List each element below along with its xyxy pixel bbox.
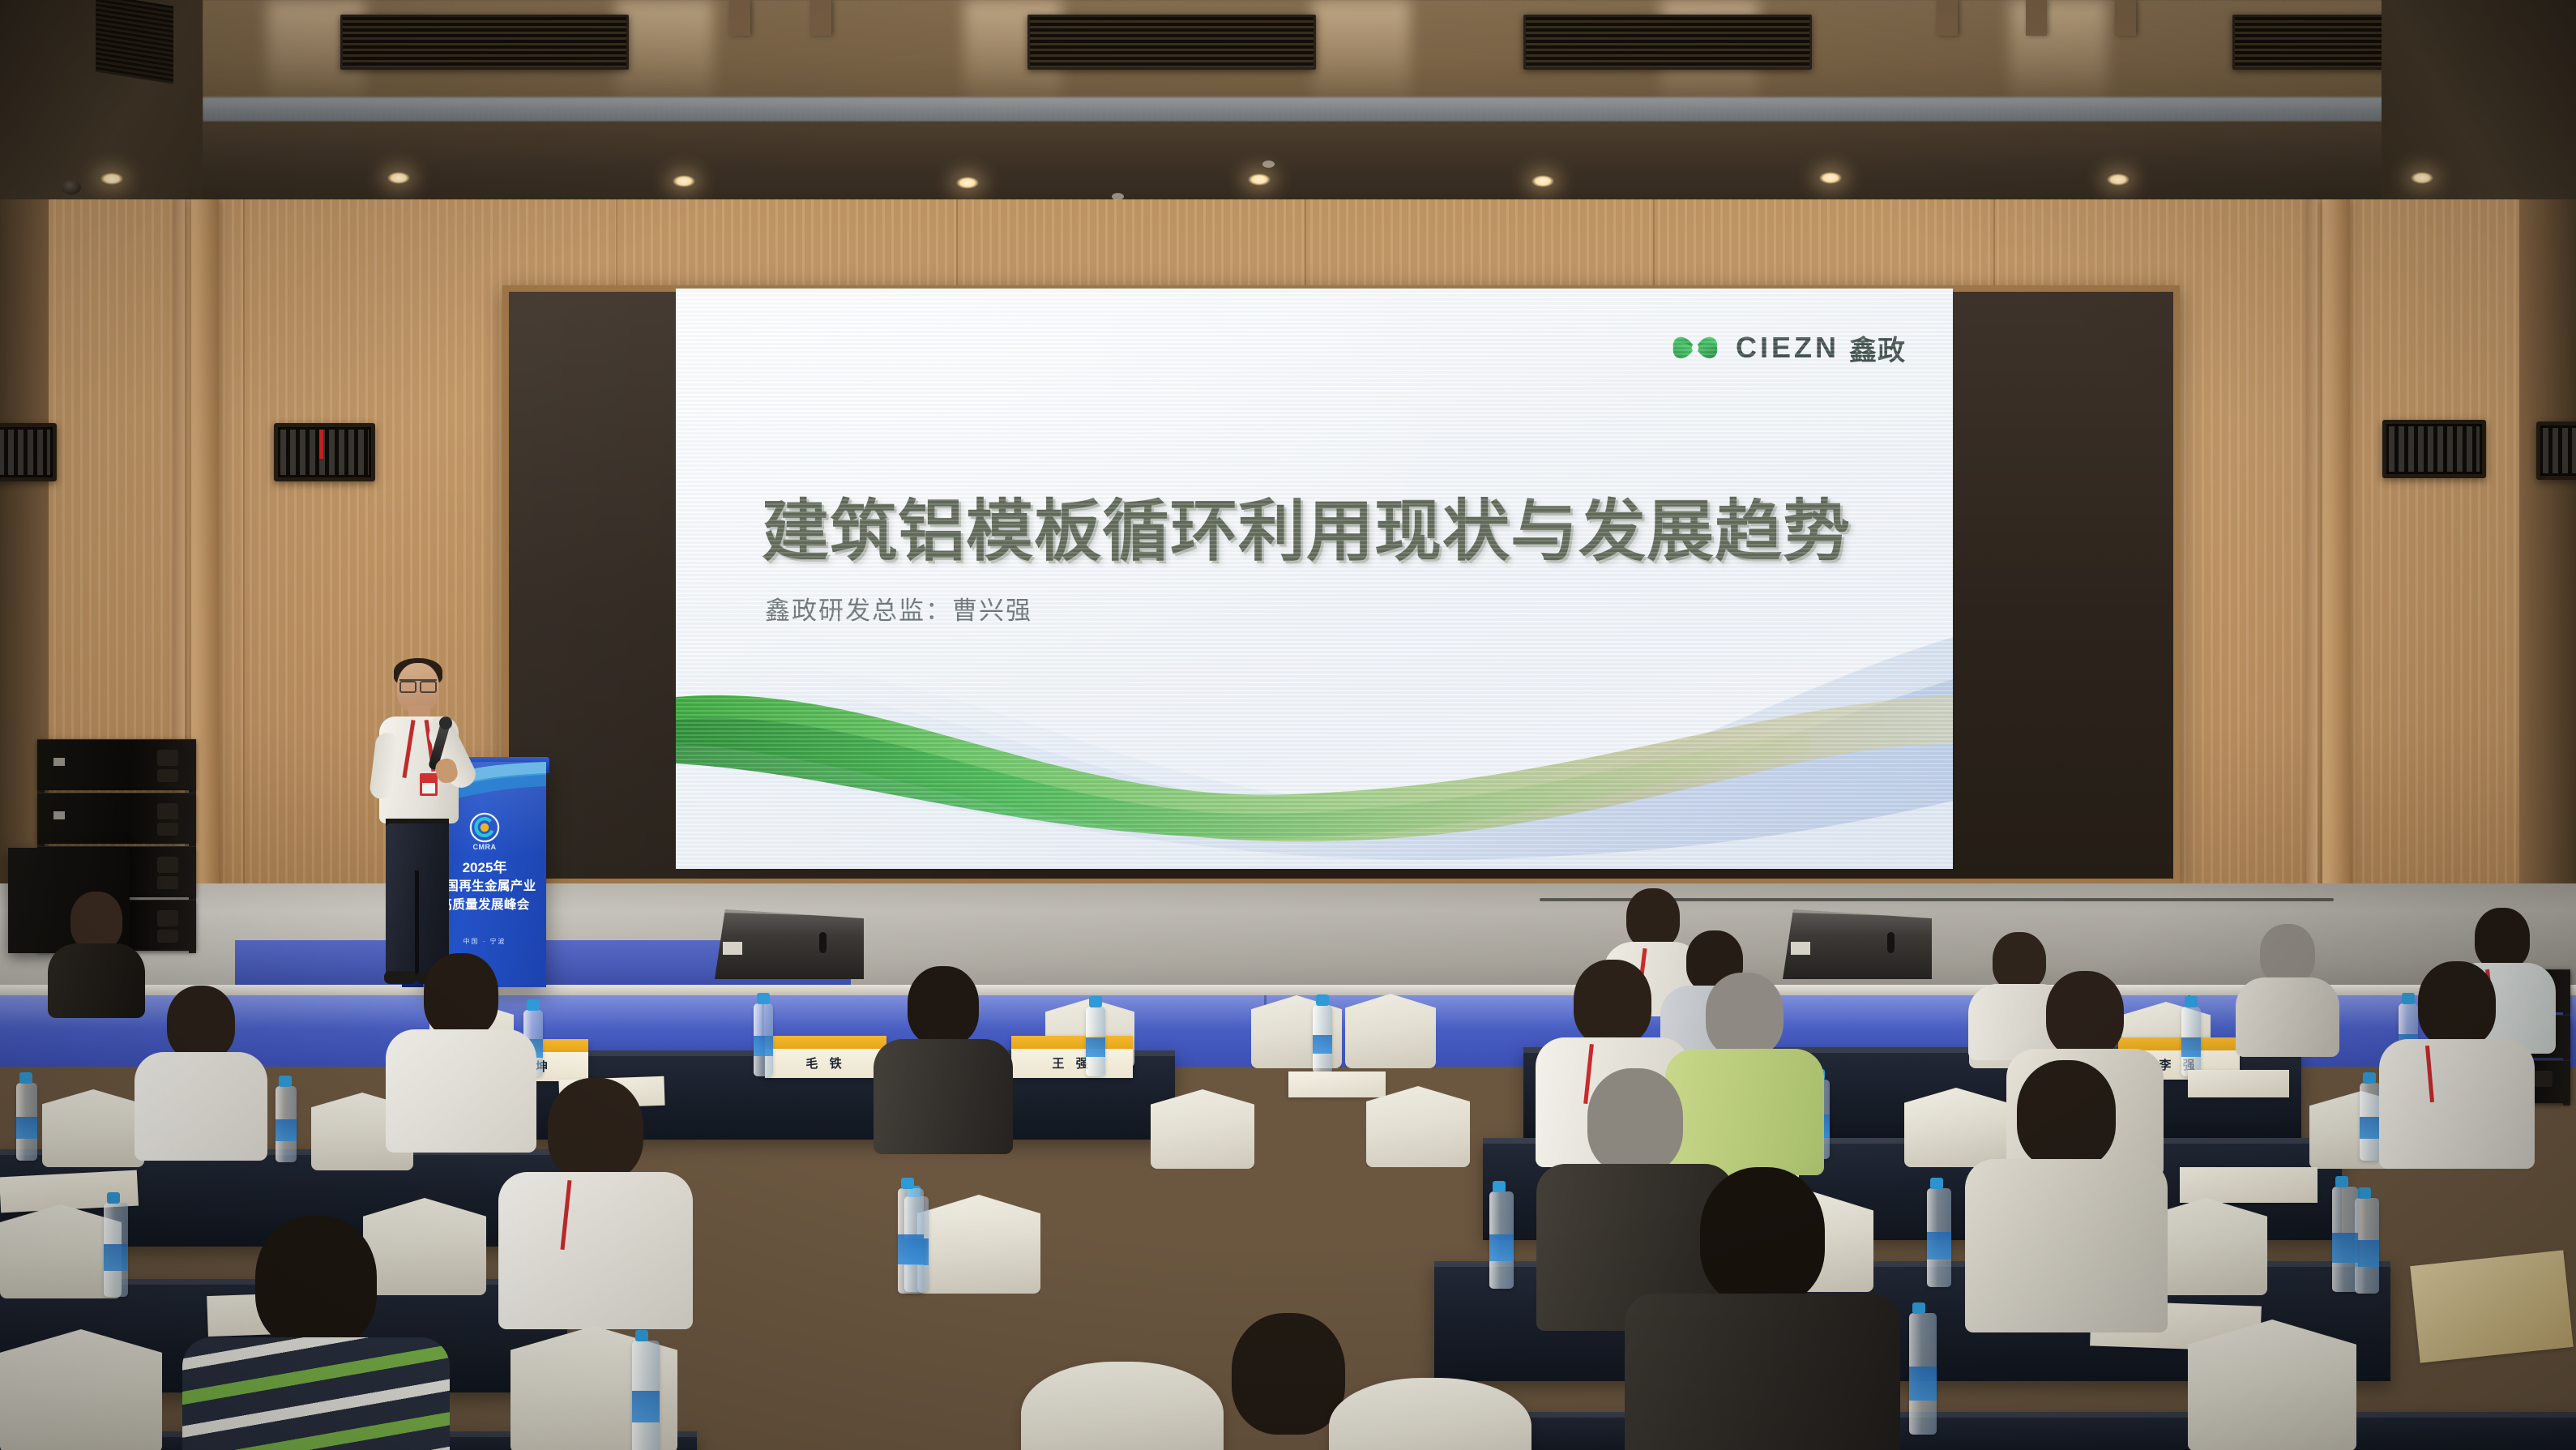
audience-chair (1366, 1086, 1470, 1167)
audience-head (1587, 1068, 1683, 1174)
audience-member (49, 892, 144, 1013)
wall-pilaster (2306, 199, 2318, 929)
vent-red-ribbon (319, 430, 323, 459)
audience-member (1969, 1060, 2164, 1328)
audience-head (2418, 961, 2496, 1047)
bottled-water (2332, 1187, 2358, 1292)
audience-member (186, 1216, 446, 1450)
ceiling-beam (2115, 0, 2136, 36)
name-placard: 毛 铁 (765, 1036, 886, 1078)
downlight (100, 173, 123, 185)
ceiling-panel-left (0, 0, 203, 204)
audience-chair (0, 1329, 162, 1450)
notepad (2180, 1167, 2318, 1203)
audience-head (1700, 1167, 1825, 1305)
audience-head (424, 953, 498, 1037)
bottled-water (16, 1083, 37, 1161)
presenter-glasses (399, 679, 437, 690)
presenter (366, 658, 467, 997)
ceiling-beam (810, 0, 831, 36)
audience-head (2475, 908, 2530, 969)
audience-head (1706, 973, 1784, 1057)
ceiling-light-wash (616, 0, 713, 107)
cmra-abbr: CMRA (473, 843, 497, 851)
slide-subtitle: 鑫政研发总监：曹兴强 (765, 590, 1032, 627)
bottled-water (1927, 1188, 1951, 1287)
audience-torso (1625, 1294, 1900, 1450)
conference-hall-photo: CIEZN 鑫政 建筑铝模板循环利用现状与发展趋势 鑫政研发总监：曹兴强 ⌒ (0, 0, 2576, 1450)
ceiling-lower-plane (0, 122, 2576, 204)
led-video-wall: CIEZN 鑫政 建筑铝模板循环利用现状与发展趋势 鑫政研发总监：曹兴强 (502, 285, 2180, 885)
ceiling-light-wash (2010, 0, 2107, 107)
bottled-water (2360, 1083, 2381, 1161)
placard-name: 王 强 (1011, 1049, 1133, 1078)
audience-member (1629, 1167, 1896, 1450)
ceiling-vent-grille (340, 15, 629, 70)
ceiling-panel-right (2382, 0, 2576, 204)
ceiling (0, 0, 2576, 204)
presenter-badge (420, 773, 438, 796)
ceiling-camera-icon (62, 180, 81, 195)
audience-torso-striped-polo (182, 1337, 450, 1450)
ceiling-vent-grille (1523, 15, 1812, 70)
ceiling-soffit-band (203, 97, 2390, 122)
downlight (387, 172, 410, 184)
audience-torso (874, 1039, 1013, 1154)
audience-torso (498, 1172, 693, 1329)
bottled-water (2355, 1198, 2379, 1294)
wall-right-return (2519, 199, 2576, 929)
downlight (1532, 175, 1554, 187)
ceiling-beam (729, 0, 750, 36)
audience-chair (1151, 1089, 1254, 1169)
name-placard: 王 强 (1011, 1036, 1133, 1078)
downlight (956, 177, 979, 189)
ceiling-return-grille (96, 0, 173, 84)
audience-head (908, 966, 979, 1046)
audience-head (167, 986, 235, 1060)
presentation-slide: CIEZN 鑫政 建筑铝模板循环利用现状与发展趋势 鑫政研发总监：曹兴强 (676, 289, 1953, 869)
cmra-logo-icon (469, 812, 500, 843)
downlight (1819, 172, 1842, 184)
wall-vent-panel (2536, 421, 2576, 480)
notepad (2188, 1070, 2289, 1097)
bottled-water (104, 1203, 128, 1297)
audience-head (1574, 960, 1651, 1046)
audience-head (2260, 924, 2315, 984)
wall-pilaster (2322, 199, 2350, 929)
wall-vent-panel (274, 423, 375, 481)
audience-member (136, 986, 266, 1156)
slide-logo-wordmark-latin: CIEZN (1736, 331, 1839, 365)
bottled-water (1313, 1005, 1332, 1073)
audience-chair (1021, 1362, 1224, 1450)
audience-member (2382, 961, 2531, 1166)
bottled-water (632, 1341, 660, 1450)
wall-vent-panel (0, 423, 57, 481)
audience-member (2236, 924, 2339, 1052)
bottled-water (898, 1188, 924, 1294)
slide-logo: CIEZN 鑫政 (1670, 323, 1906, 373)
slide-wave-graphic (676, 601, 1953, 869)
ceiling-beam (2026, 0, 2047, 36)
wall-vent-panel (2382, 420, 2486, 478)
downlight (2107, 173, 2130, 186)
slide-logo-wordmark-cn: 鑫政 (1849, 328, 1906, 368)
ceiling-light-wash (1313, 0, 1410, 107)
audience-head (2017, 1060, 2116, 1169)
bottled-water (276, 1086, 297, 1162)
bottled-water (1489, 1191, 1514, 1289)
slide-logo-wordmark: CIEZN 鑫政 (1736, 328, 1906, 368)
bottled-water (1909, 1313, 1937, 1435)
bottled-water (754, 1003, 773, 1076)
audience-head (1232, 1313, 1345, 1435)
audience-member (875, 966, 1011, 1149)
audience-head (548, 1078, 643, 1182)
conference-program-booklet (2410, 1250, 2574, 1362)
ceiling-beam (1937, 0, 1958, 36)
audience-chair (2188, 1320, 2356, 1450)
downlight (673, 175, 695, 187)
stage-floor-monitor (1783, 909, 1932, 979)
stage-floor-monitor (715, 909, 864, 979)
audience-head (70, 892, 122, 950)
bottled-water (1086, 1007, 1105, 1076)
audience-torso (135, 1052, 267, 1161)
ceiling-vent-grille (1027, 15, 1316, 70)
audience-chair (1345, 994, 1436, 1068)
downlight (2411, 172, 2433, 184)
bottled-water (2181, 1007, 2201, 1076)
audience-torso (2236, 977, 2339, 1057)
placard-name: 毛 铁 (765, 1049, 886, 1078)
audience-table (1378, 1412, 2576, 1450)
audience-chair (42, 1089, 144, 1167)
slide-title: 建筑铝模板循环利用现状与发展趋势 (762, 477, 1851, 574)
audience-head (2046, 971, 2124, 1057)
notepad (1288, 1071, 1386, 1097)
smoke-detector (1262, 160, 1275, 168)
audience-torso (1965, 1159, 2168, 1332)
audience-member (502, 1078, 689, 1321)
audience-head (255, 1216, 377, 1349)
audience-chair (917, 1195, 1040, 1294)
ciezn-butterfly-mark-icon (1670, 323, 1720, 373)
audience-torso (48, 943, 145, 1018)
audience-torso (2379, 1039, 2535, 1169)
downlight (1248, 173, 1271, 186)
